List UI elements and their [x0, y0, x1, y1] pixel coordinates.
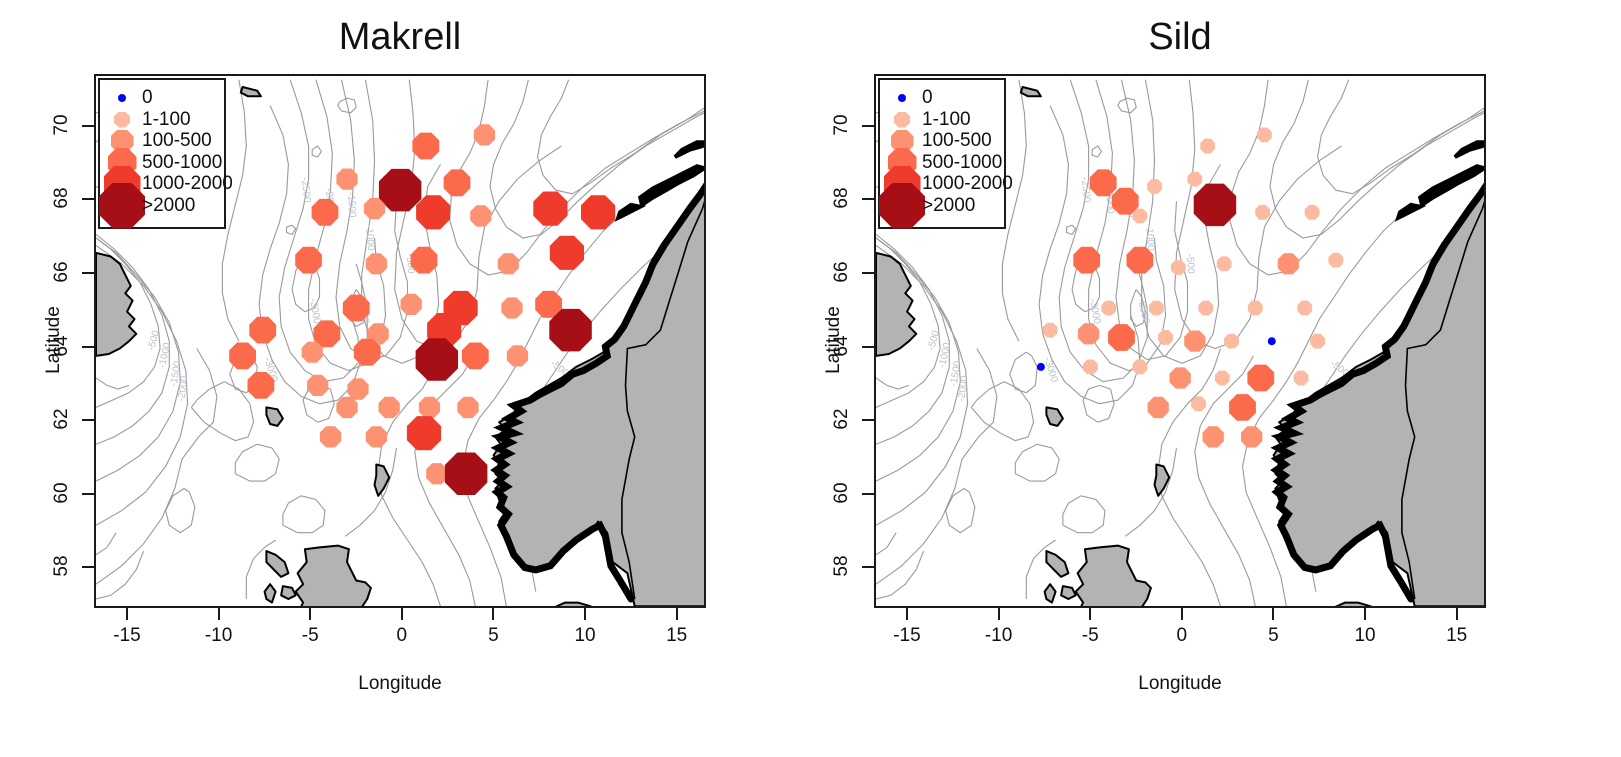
- data-point: [457, 397, 478, 418]
- data-point: [1147, 179, 1162, 194]
- data-point: [1200, 139, 1215, 154]
- landmass-hebrides: [265, 584, 276, 602]
- x-tick-mark: [401, 608, 403, 620]
- data-point: [498, 253, 519, 274]
- y-tick-mark: [862, 125, 874, 127]
- landmass-denmark: [1330, 603, 1378, 608]
- legend-symbol: [894, 112, 910, 128]
- x-tick-label: 10: [1354, 625, 1375, 647]
- y-tick-label: 62: [51, 405, 73, 433]
- x-tick-mark: [492, 608, 494, 620]
- data-point: [426, 463, 447, 484]
- contour-line: [166, 489, 195, 533]
- data-point: [549, 309, 592, 352]
- y-tick-label: 58: [51, 552, 73, 580]
- y-tick-label: 58: [831, 552, 853, 580]
- data-point: [419, 397, 440, 418]
- data-point: [1191, 396, 1206, 411]
- contour-line: [287, 225, 296, 234]
- x-tick-mark: [126, 608, 128, 620]
- data-point: [407, 416, 441, 450]
- y-tick-label: 64: [831, 332, 853, 360]
- data-point: [581, 195, 615, 229]
- x-tick-label: -5: [1082, 625, 1099, 647]
- data-point: [1224, 334, 1239, 349]
- x-axis-label-sild: Longitude: [874, 673, 1486, 695]
- contour-line: [96, 533, 116, 555]
- legend-label: 0: [142, 87, 153, 109]
- landmass-denmark: [550, 603, 598, 608]
- data-point: [343, 295, 370, 322]
- data-point: [336, 397, 357, 418]
- data-point: [1198, 301, 1213, 316]
- data-point: [1133, 209, 1148, 224]
- contour-line: [1015, 444, 1059, 481]
- contour-depth-label: -500: [1184, 253, 1196, 274]
- data-point: [295, 247, 322, 274]
- contour-depth-label: -2000: [956, 375, 971, 402]
- contour-depth-label: -3000: [1041, 356, 1060, 384]
- legend-label: 1000-2000: [142, 173, 233, 195]
- data-point: [336, 169, 357, 190]
- legend-label: 1000-2000: [922, 173, 1013, 195]
- y-tick-mark: [82, 566, 94, 568]
- landmass-hebrides: [281, 586, 296, 599]
- data-point: [1294, 371, 1309, 386]
- data-point: [1073, 247, 1100, 274]
- data-point: [1215, 371, 1230, 386]
- contour-line: [876, 349, 997, 585]
- panel-title-makrell: Makrell: [94, 16, 706, 59]
- landmass-jan-mayen: [1021, 87, 1041, 96]
- data-point: [1229, 394, 1256, 421]
- y-tick-mark: [862, 198, 874, 200]
- legend-label: >2000: [922, 195, 975, 217]
- contour-line: [96, 378, 129, 389]
- legend-label: 0: [922, 87, 933, 109]
- data-point: [1248, 301, 1263, 316]
- data-point: [366, 426, 387, 447]
- data-point: [501, 297, 522, 318]
- contour-depth-label: -3500: [1135, 298, 1151, 326]
- y-tick-mark: [862, 272, 874, 274]
- data-point: [1310, 334, 1325, 349]
- contour-line: [191, 382, 253, 441]
- landmass-hebrides: [1046, 551, 1068, 577]
- x-tick-mark: [676, 608, 678, 620]
- y-tick-label: 66: [831, 258, 853, 286]
- data-point: [312, 199, 339, 226]
- data-point: [1090, 169, 1117, 196]
- island-lofoten: [1455, 142, 1486, 157]
- data-point: [379, 397, 400, 418]
- x-tick-label: 0: [397, 625, 408, 647]
- contour-line: [96, 551, 144, 599]
- data-point: [1305, 205, 1320, 220]
- data-point: [379, 169, 422, 212]
- legend-label: 100-500: [142, 130, 212, 152]
- data-point: [412, 133, 439, 160]
- y-tick-mark: [82, 125, 94, 127]
- contour-depth-label: -1500: [345, 192, 358, 219]
- landmass-shetland: [1155, 465, 1170, 496]
- y-tick-label: 64: [51, 332, 73, 360]
- data-point: [248, 372, 275, 399]
- data-point: [1203, 426, 1224, 447]
- x-tick-mark: [309, 608, 311, 620]
- y-tick-mark: [862, 493, 874, 495]
- data-point: [1184, 331, 1205, 352]
- data-point: [1037, 363, 1045, 371]
- landmass-faroe: [1046, 407, 1063, 426]
- data-point: [1108, 324, 1135, 351]
- data-point: [249, 317, 276, 344]
- x-tick-label: -15: [113, 625, 140, 647]
- contour-line: [876, 378, 909, 389]
- y-tick-label: 68: [51, 184, 73, 212]
- data-point: [444, 169, 471, 196]
- landmass-jan-mayen: [241, 87, 261, 96]
- x-tick-mark: [1456, 608, 1458, 620]
- landmass-scotland: [1076, 546, 1151, 608]
- y-tick-mark: [862, 346, 874, 348]
- data-point: [1170, 367, 1191, 388]
- legend-label: 1-100: [142, 109, 191, 131]
- data-point: [364, 198, 385, 219]
- data-point: [1278, 253, 1299, 274]
- x-tick-mark: [1364, 608, 1366, 620]
- legend-label: 500-1000: [922, 152, 1002, 174]
- x-tick-label: 0: [1177, 625, 1188, 647]
- y-tick-label: 66: [51, 258, 73, 286]
- y-tick-mark: [862, 566, 874, 568]
- contour-line: [345, 448, 396, 536]
- figure-canvas: Makrell -3500-3000-3000-2500-2000-1500-1…: [0, 0, 1621, 757]
- data-point: [550, 236, 584, 270]
- data-point: [302, 342, 323, 363]
- x-tick-label: -5: [302, 625, 319, 647]
- data-point: [1257, 128, 1272, 143]
- legend-makrell: 01-100100-500500-10001000-2000>2000: [98, 78, 226, 229]
- data-point: [1329, 253, 1344, 268]
- x-tick-label: -10: [205, 625, 232, 647]
- data-point: [1255, 205, 1270, 220]
- landmass-hebrides: [1061, 586, 1076, 599]
- data-point: [1217, 256, 1232, 271]
- y-tick-label: 60: [831, 479, 853, 507]
- contour-line: [946, 489, 975, 533]
- legend-sild: 01-100100-500500-10001000-2000>2000: [878, 78, 1006, 229]
- legend-symbol: [879, 183, 925, 229]
- x-tick-label: 5: [488, 625, 499, 647]
- data-point: [1268, 337, 1276, 345]
- data-point: [1149, 301, 1164, 316]
- contour-line: [336, 80, 408, 360]
- x-tick-label: -10: [985, 625, 1012, 647]
- contour-line: [876, 533, 896, 555]
- data-point: [462, 343, 489, 370]
- y-tick-label: 70: [51, 111, 73, 139]
- data-point: [1241, 426, 1262, 447]
- contour-line: [1270, 80, 1486, 238]
- landmass-hebrides: [266, 551, 288, 577]
- y-tick-mark: [82, 346, 94, 348]
- contour-line: [1067, 225, 1076, 234]
- contour-line: [971, 382, 1033, 441]
- data-point: [445, 453, 488, 496]
- data-point: [307, 375, 328, 396]
- x-tick-mark: [218, 608, 220, 620]
- data-point: [229, 343, 256, 370]
- data-point: [1297, 301, 1312, 316]
- data-point: [470, 205, 491, 226]
- data-point: [1127, 247, 1154, 274]
- x-tick-mark: [584, 608, 586, 620]
- x-tick-mark: [1181, 608, 1183, 620]
- data-point: [347, 378, 368, 399]
- contour-depth-label: -1000: [363, 225, 376, 252]
- y-tick-label: 70: [831, 111, 853, 139]
- x-tick-mark: [998, 608, 1000, 620]
- legend-symbol: [898, 94, 906, 102]
- x-axis-label-makrell: Longitude: [94, 673, 706, 695]
- data-point: [320, 426, 341, 447]
- contour-line: [235, 444, 279, 481]
- y-tick-mark: [82, 198, 94, 200]
- data-point: [507, 345, 528, 366]
- contour-line: [876, 551, 924, 599]
- contour-line: [1195, 356, 1256, 606]
- y-tick-label: 60: [51, 479, 73, 507]
- contour-line: [1010, 352, 1037, 393]
- legend-label: 100-500: [922, 130, 992, 152]
- contour-line: [1116, 80, 1188, 360]
- island-lofoten: [618, 205, 640, 218]
- contour-line: [1125, 448, 1176, 536]
- x-tick-label: 10: [574, 625, 595, 647]
- landmass-hebrides: [1045, 584, 1056, 602]
- legend-symbol: [114, 112, 130, 128]
- data-point: [1078, 323, 1099, 344]
- data-point: [354, 339, 381, 366]
- x-tick-mark: [906, 608, 908, 620]
- data-point: [416, 338, 459, 381]
- data-point: [1247, 365, 1274, 392]
- y-tick-mark: [82, 419, 94, 421]
- x-tick-mark: [1089, 608, 1091, 620]
- data-point: [411, 247, 438, 274]
- data-point: [1194, 184, 1237, 227]
- y-tick-label: 62: [831, 405, 853, 433]
- data-point: [1171, 260, 1186, 275]
- panel-title-sild: Sild: [874, 16, 1486, 59]
- data-point: [1187, 172, 1202, 187]
- data-point: [416, 195, 450, 229]
- data-point: [1043, 323, 1058, 338]
- y-tick-mark: [82, 493, 94, 495]
- contour-line: [312, 146, 321, 157]
- island-lofoten: [1398, 205, 1420, 218]
- landmass-shetland: [375, 465, 390, 496]
- x-tick-label: 15: [666, 625, 687, 647]
- legend-label: >2000: [142, 195, 195, 217]
- contour-depth-label: -2000: [176, 375, 191, 402]
- data-point: [1083, 360, 1098, 375]
- contour-line: [1063, 496, 1105, 533]
- x-tick-mark: [1272, 608, 1274, 620]
- island-lofoten: [675, 142, 706, 157]
- data-point: [1148, 397, 1169, 418]
- data-point: [1112, 188, 1139, 215]
- y-tick-mark: [82, 272, 94, 274]
- y-tick-mark: [862, 419, 874, 421]
- contour-line: [283, 496, 325, 533]
- legend-label: 1-100: [922, 109, 971, 131]
- data-point: [1133, 360, 1148, 375]
- data-point: [533, 192, 567, 226]
- contour-line: [96, 349, 217, 585]
- x-tick-label: 15: [1446, 625, 1467, 647]
- y-tick-label: 68: [831, 184, 853, 212]
- data-point: [1158, 330, 1173, 345]
- x-tick-label: -15: [893, 625, 920, 647]
- data-point: [474, 124, 495, 145]
- contour-line: [1092, 146, 1101, 157]
- contour-depth-label: -2500: [299, 177, 313, 204]
- data-point: [1101, 301, 1116, 316]
- legend-label: 500-1000: [142, 152, 222, 174]
- landmass-faroe: [266, 407, 283, 426]
- landmass-scotland: [296, 546, 371, 608]
- legend-symbol: [118, 94, 126, 102]
- x-tick-label: 5: [1268, 625, 1279, 647]
- data-point: [366, 253, 387, 274]
- data-point: [401, 294, 422, 315]
